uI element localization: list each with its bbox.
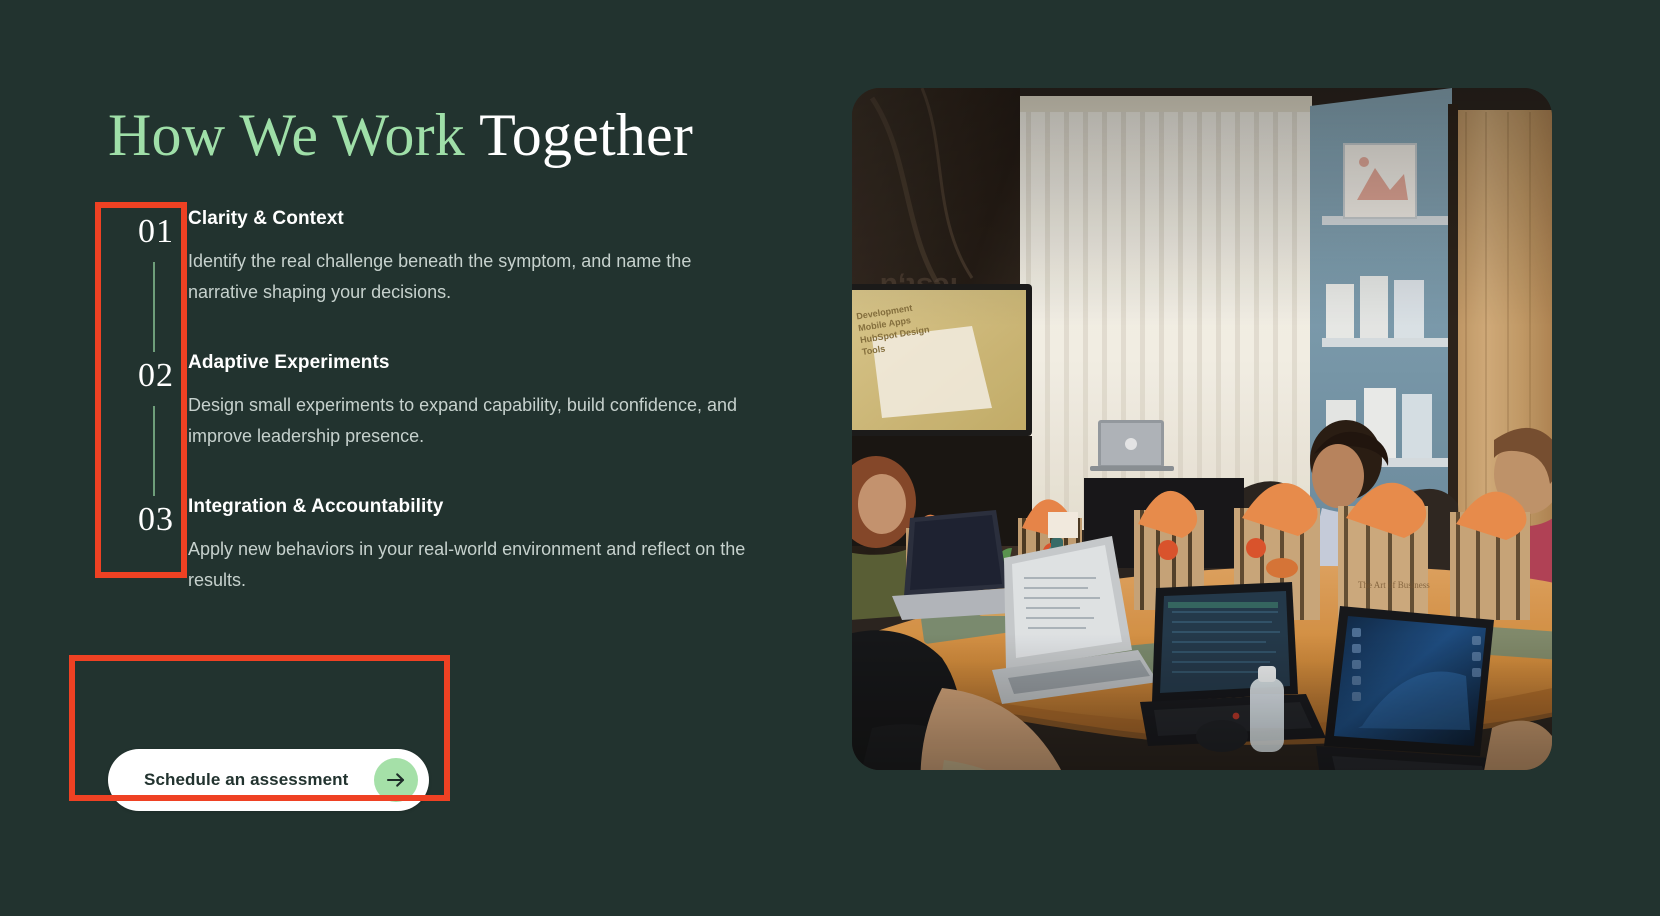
page-title-accent: How We Work (108, 102, 465, 168)
schedule-assessment-button[interactable]: Schedule an assessment (108, 749, 429, 811)
page-title: How We Work Together (108, 101, 693, 169)
step-title: Integration & Accountability (188, 494, 768, 520)
page-title-plain: Together (479, 102, 693, 168)
meeting-room-photo: lest,u (852, 88, 1552, 770)
left-content-column: How We Work Together 01 Clarity & Contex… (0, 0, 800, 916)
step-description: Identify the real challenge beneath the … (188, 246, 758, 308)
arrow-right-icon (374, 758, 418, 802)
step-description: Apply new behaviors in your real-world e… (188, 534, 758, 596)
step-description: Design small experiments to expand capab… (188, 390, 758, 452)
step-body: Adaptive Experiments Design small experi… (188, 350, 768, 452)
step-body: Clarity & Context Identify the real chal… (188, 206, 768, 308)
step-connector-line (153, 406, 155, 496)
cta-container: Schedule an assessment (108, 749, 429, 811)
list-item: 02 Adaptive Experiments Design small exp… (108, 350, 768, 494)
step-body: Integration & Accountability Apply new b… (188, 494, 768, 596)
process-steps-list: 01 Clarity & Context Identify the real c… (108, 206, 768, 614)
step-connector-line (153, 262, 155, 352)
list-item: 01 Clarity & Context Identify the real c… (108, 206, 768, 350)
page-root: How We Work Together 01 Clarity & Contex… (0, 0, 1660, 916)
schedule-assessment-label: Schedule an assessment (144, 770, 348, 790)
step-number: 03 (124, 502, 188, 538)
step-number: 01 (124, 214, 188, 250)
step-title: Adaptive Experiments (188, 350, 768, 376)
step-number: 02 (124, 358, 188, 394)
step-title: Clarity & Context (188, 206, 768, 232)
list-item: 03 Integration & Accountability Apply ne… (108, 494, 768, 614)
